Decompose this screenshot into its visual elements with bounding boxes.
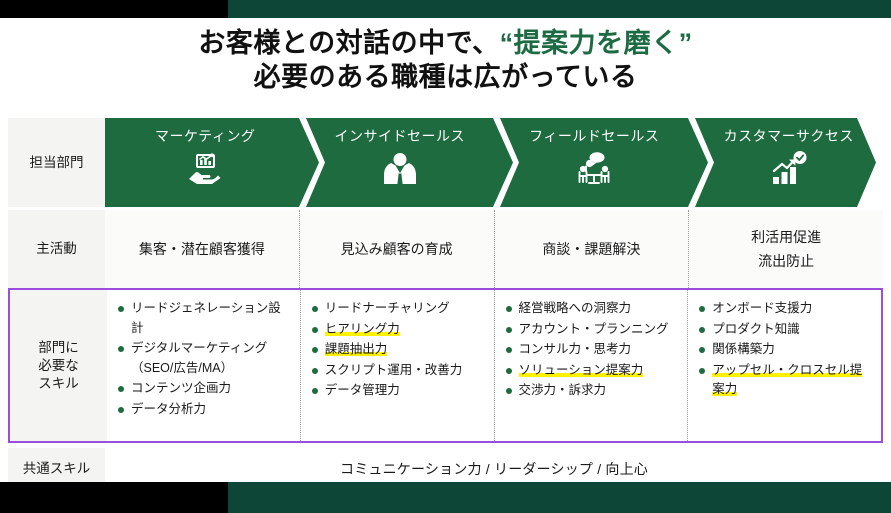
row-label-department: 担当部門 [8, 118, 105, 207]
chevron-tip-icon [857, 118, 883, 207]
list-item: 関係構築力 [698, 340, 873, 360]
skill-list: リードジェネレーション設計 デジタルマーケティング（SEO/広告/MA） コンテ… [117, 299, 292, 419]
chevron-label: カスタマーサクセス [724, 126, 854, 146]
slide-canvas: お客様との対話の中で、“提案力を磨く” 必要のある職種は広がっている 担当部門 … [0, 0, 891, 513]
skill-list: リードナーチャリング ヒアリング力 課題抽出力 スクリプト運用・改善力 データ管… [311, 299, 486, 401]
list-item: スクリプト運用・改善力 [311, 361, 486, 381]
chevron-notch-icon [493, 118, 519, 207]
chevron-marketing[interactable]: マーケティング [105, 118, 300, 207]
department-row: 担当部門 マーケティング [8, 118, 883, 207]
title-line-1-accent: “提案力を磨く” [500, 28, 693, 58]
skill-text: デジタルマーケティング（SEO/広告/MA） [131, 341, 267, 375]
activity-text: 商談・課題解決 [542, 237, 640, 261]
activity-cells: 集客・潜在顧客獲得 見込み顧客の育成 商談・課題解決 利活用促進 流出防止 [105, 210, 883, 288]
top-bar-black-segment [0, 0, 228, 18]
chevron-label: インサイドセールス [335, 126, 466, 146]
skill-text: リードナーチャリング [325, 301, 450, 315]
business-person-icon [383, 151, 417, 185]
list-item: 課題抽出力 [311, 340, 486, 360]
row-label-activity: 主活動 [8, 210, 105, 288]
skills-cells: リードジェネレーション設計 デジタルマーケティング（SEO/広告/MA） コンテ… [107, 290, 881, 441]
activity-text: 見込み顧客の育成 [341, 237, 453, 261]
row-label-skills-line-2: 必要な [38, 357, 79, 375]
skill-text: コンテンツ企画力 [131, 381, 231, 395]
bottom-bar-black-segment [0, 482, 228, 513]
skill-text: データ分析力 [131, 402, 206, 416]
activity-cell-customer-success: 利活用促進 流出防止 [688, 210, 883, 288]
list-item: 経営戦略への洞察力 [505, 299, 680, 319]
top-bar-green-segment [228, 0, 891, 18]
activity-cell-inside-sales: 見込み顧客の育成 [299, 210, 494, 288]
skill-text: コンサル力・思考力 [519, 342, 632, 356]
list-item: ヒアリング力 [311, 320, 486, 340]
chevron-notch-icon [299, 118, 325, 207]
activity-cell-field-sales: 商談・課題解決 [494, 210, 689, 288]
skill-text: オンボード支援力 [712, 301, 812, 315]
activity-text: 利活用促進 [751, 225, 821, 249]
growth-chart-check-icon [770, 151, 808, 185]
skill-text: プロダクト知識 [712, 322, 800, 336]
chevron-field-sales[interactable]: フィールドセールス [494, 118, 689, 207]
title-line-1: お客様との対話の中で、“提案力を磨く” [0, 26, 891, 60]
row-label-skills-line-1: 部門に [38, 339, 79, 357]
skills-row: 部門に 必要な スキル リードジェネレーション設計 デジタルマーケティング（SE… [8, 288, 883, 443]
skills-cell-inside-sales: リードナーチャリング ヒアリング力 課題抽出力 スクリプト運用・改善力 データ管… [300, 290, 494, 441]
activity-row: 主活動 集客・潜在顧客獲得 見込み顧客の育成 商談・課題解決 利活用促進 流出防… [8, 210, 883, 288]
chevron-label: マーケティング [155, 126, 255, 146]
list-item: コンサル力・思考力 [505, 340, 680, 360]
hand-holding-chart-icon [185, 151, 225, 185]
skill-text: リードジェネレーション設計 [131, 301, 281, 335]
skill-text-highlighted: アップセル・クロスセル提案力 [712, 363, 862, 397]
process-table: 担当部門 マーケティング [8, 118, 883, 490]
list-item: データ分析力 [117, 400, 292, 420]
skill-text: 関係構築力 [712, 342, 775, 356]
list-item: リードジェネレーション設計 [117, 299, 292, 338]
skill-text: スクリプト運用・改善力 [325, 363, 463, 377]
skills-cell-marketing: リードジェネレーション設計 デジタルマーケティング（SEO/広告/MA） コンテ… [107, 290, 300, 441]
chevron-label: フィールドセールス [529, 126, 659, 146]
list-item: 交渉力・訴求力 [505, 381, 680, 401]
skill-text: データ管理力 [325, 383, 400, 397]
skill-text: 交渉力・訴求力 [519, 383, 607, 397]
chevron-notch-icon [688, 118, 714, 207]
page-title: お客様との対話の中で、“提案力を磨く” 必要のある職種は広がっている [0, 26, 891, 94]
bottom-bar-green-segment [228, 482, 891, 513]
skill-list: 経営戦略への洞察力 アカウント・プランニング コンサル力・思考力 ソリューション… [505, 299, 680, 401]
list-item: デジタルマーケティング（SEO/広告/MA） [117, 339, 292, 378]
chevron-inside-sales[interactable]: インサイドセールス [300, 118, 495, 207]
list-item: リードナーチャリング [311, 299, 486, 319]
skills-cell-customer-success: オンボード支援力 プロダクト知識 関係構築力 アップセル・クロスセル提案力 [687, 290, 881, 441]
meeting-discussion-icon [573, 151, 615, 185]
bottom-letterbox-bar [0, 482, 891, 513]
list-item: アップセル・クロスセル提案力 [698, 361, 873, 400]
top-letterbox-bar [0, 0, 891, 18]
skill-text: アカウント・プランニング [519, 322, 669, 336]
activity-text: 集客・潜在顧客獲得 [139, 237, 265, 261]
skill-text: 経営戦略への洞察力 [519, 301, 632, 315]
activity-text: 流出防止 [758, 249, 814, 273]
chevron-track: マーケティング [105, 118, 883, 207]
row-label-skills-line-3: スキル [38, 375, 79, 393]
skill-text-highlighted: ソリューション提案力 [519, 363, 644, 377]
skill-list: オンボード支援力 プロダクト知識 関係構築力 アップセル・クロスセル提案力 [698, 299, 873, 400]
list-item: ソリューション提案力 [505, 361, 680, 381]
skill-text-highlighted: 課題抽出力 [325, 342, 388, 356]
skills-cell-field-sales: 経営戦略への洞察力 アカウント・プランニング コンサル力・思考力 ソリューション… [494, 290, 688, 441]
list-item: プロダクト知識 [698, 320, 873, 340]
list-item: オンボード支援力 [698, 299, 873, 319]
chevron-customer-success[interactable]: カスタマーサクセス [689, 118, 884, 207]
skill-text-highlighted: ヒアリング力 [325, 322, 400, 336]
activity-cell-marketing: 集客・潜在顧客獲得 [105, 210, 299, 288]
row-label-skills: 部門に 必要な スキル [10, 290, 107, 441]
list-item: データ管理力 [311, 381, 486, 401]
title-line-2: 必要のある職種は広がっている [0, 60, 891, 94]
list-item: アカウント・プランニング [505, 320, 680, 340]
title-line-1-plain: お客様との対話の中で、 [198, 28, 499, 58]
list-item: コンテンツ企画力 [117, 379, 292, 399]
